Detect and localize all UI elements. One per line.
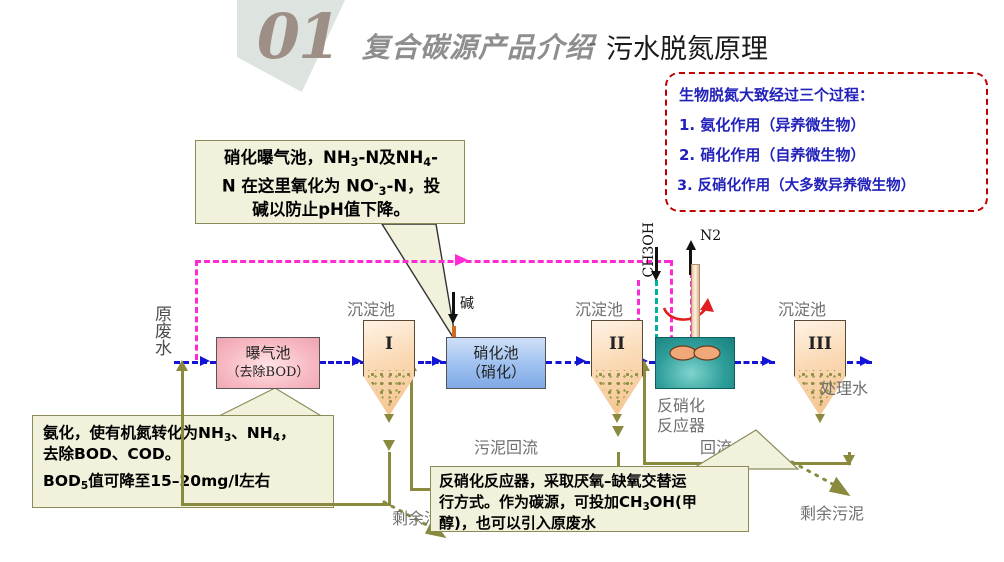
- clarifier-2-outlet: [612, 414, 622, 423]
- nitrification-callout: 硝化曝气池，NH3-N及NH4- N 在这里氧化为 NO-3-N，投 碱以防止p…: [195, 140, 465, 224]
- slide-canvas: 01 复合碳源产品介绍 - 污水脱氮原理 生物脱氮大致经过三个过程： 1. 氨化…: [0, 0, 1004, 562]
- biological-denitrification-note: 生物脱氮大致经过三个过程： 1. 氨化作用（异养微生物） 2. 硝化作用（自养微…: [665, 72, 988, 212]
- methanol-arrow-stem: [655, 247, 658, 273]
- clarifier-1-outlet: [384, 414, 394, 423]
- mixer-rotation-icon: [660, 292, 716, 328]
- clarifier-1[interactable]: I: [363, 320, 415, 416]
- nitrification-line-3: 碱以防止pH值下降。: [204, 197, 458, 223]
- clarifier-1-caption: 沉淀池: [347, 296, 395, 320]
- alkali-arrow-head: [448, 314, 458, 324]
- sludge-II-down-arrow: [612, 426, 624, 437]
- sludge-III-up: [643, 368, 646, 464]
- page-subtitle: 污水脱氮原理: [606, 27, 768, 66]
- section-number: 01: [243, 4, 353, 74]
- clarifier-2[interactable]: II: [591, 320, 643, 416]
- aeration-tank-line1: 曝气池: [227, 344, 310, 363]
- main-flow-arrow-2: [432, 356, 442, 366]
- ammonification-line-3: BOD5值可降至15–20mg/l左右: [43, 471, 270, 497]
- main-flow-arrow-0: [200, 356, 210, 366]
- note-item-2: 2. 硝化作用（自养微生物）: [679, 144, 865, 165]
- nitrification-tank-line1: 硝化池: [466, 344, 526, 363]
- clarifier-3-caption: 沉淀池: [778, 296, 826, 320]
- note-heading: 生物脱氮大致经过三个过程：: [679, 84, 874, 105]
- recycle-line-top: [195, 260, 670, 263]
- sludge-I-up-arrow: [176, 360, 188, 371]
- mixer-impeller-icon: [669, 343, 721, 363]
- clarifier-3[interactable]: III: [794, 320, 846, 416]
- clarifier-1-roman: I: [363, 334, 415, 354]
- denitrification-callout-tail: [690, 428, 800, 470]
- aeration-tank[interactable]: 曝气池 （去除BOD）: [216, 337, 320, 389]
- aeration-tank-line2: （去除BOD）: [227, 363, 310, 382]
- note-item-3: 3. 反硝化作用（大多数异养微生物）: [677, 174, 915, 195]
- page-title: 复合碳源产品介绍: [362, 26, 594, 66]
- main-flow-arrow-3: [576, 356, 586, 366]
- alkali-label: 碱: [460, 293, 474, 313]
- nitrification-tank-line2: （硝化）: [466, 363, 526, 382]
- ammonification-line-2: 去除BOD、COD。: [43, 444, 180, 465]
- title-separator: -: [589, 30, 596, 56]
- recycle-line-left-vertical: [195, 260, 198, 360]
- main-flow-arrow-6: [860, 356, 870, 366]
- denitrification-line-1: 反硝化反应器，采取厌氧–缺氧交替运: [439, 471, 687, 492]
- sludge-I-bottom: [181, 503, 391, 506]
- sludge-I-down-arrow: [383, 440, 395, 451]
- clarifier-2-roman: II: [591, 334, 643, 354]
- denitrification-callout: 反硝化反应器，采取厌氧–缺氧交替运 行方式。作为碳源，可投加CH3OH(甲 醇)…: [430, 466, 749, 532]
- effluent-label: 处理水: [820, 375, 868, 399]
- alkali-arrow-stem: [452, 292, 455, 316]
- nitrification-tank[interactable]: 硝化池 （硝化）: [446, 337, 546, 389]
- main-flow-arrow-5: [762, 356, 772, 366]
- methanol-feed-line: [655, 280, 658, 340]
- ammonification-callout-tail: [215, 386, 325, 418]
- influent-label: 原废水: [150, 305, 171, 356]
- methanol-arrow-head: [651, 271, 661, 281]
- sludge-return-label: 污泥回流: [474, 434, 538, 458]
- recycle-arrow-right: [455, 254, 468, 266]
- note-item-1: 1. 氨化作用（异养微生物）: [679, 114, 865, 135]
- main-flow-arrow-1: [352, 356, 362, 366]
- clarifier-2-caption: 沉淀池: [575, 296, 623, 320]
- nitrogen-label: N2: [700, 228, 721, 244]
- clarifier-3-roman: III: [794, 334, 846, 354]
- sludge-I-down: [388, 452, 391, 506]
- sludge-I-up: [181, 368, 184, 506]
- waste-sludge-label-2: 剩余污泥: [800, 500, 864, 524]
- denitrification-line-3: 醇)，也可以引入原废水: [439, 513, 596, 534]
- clarifier-3-outlet: [815, 414, 825, 423]
